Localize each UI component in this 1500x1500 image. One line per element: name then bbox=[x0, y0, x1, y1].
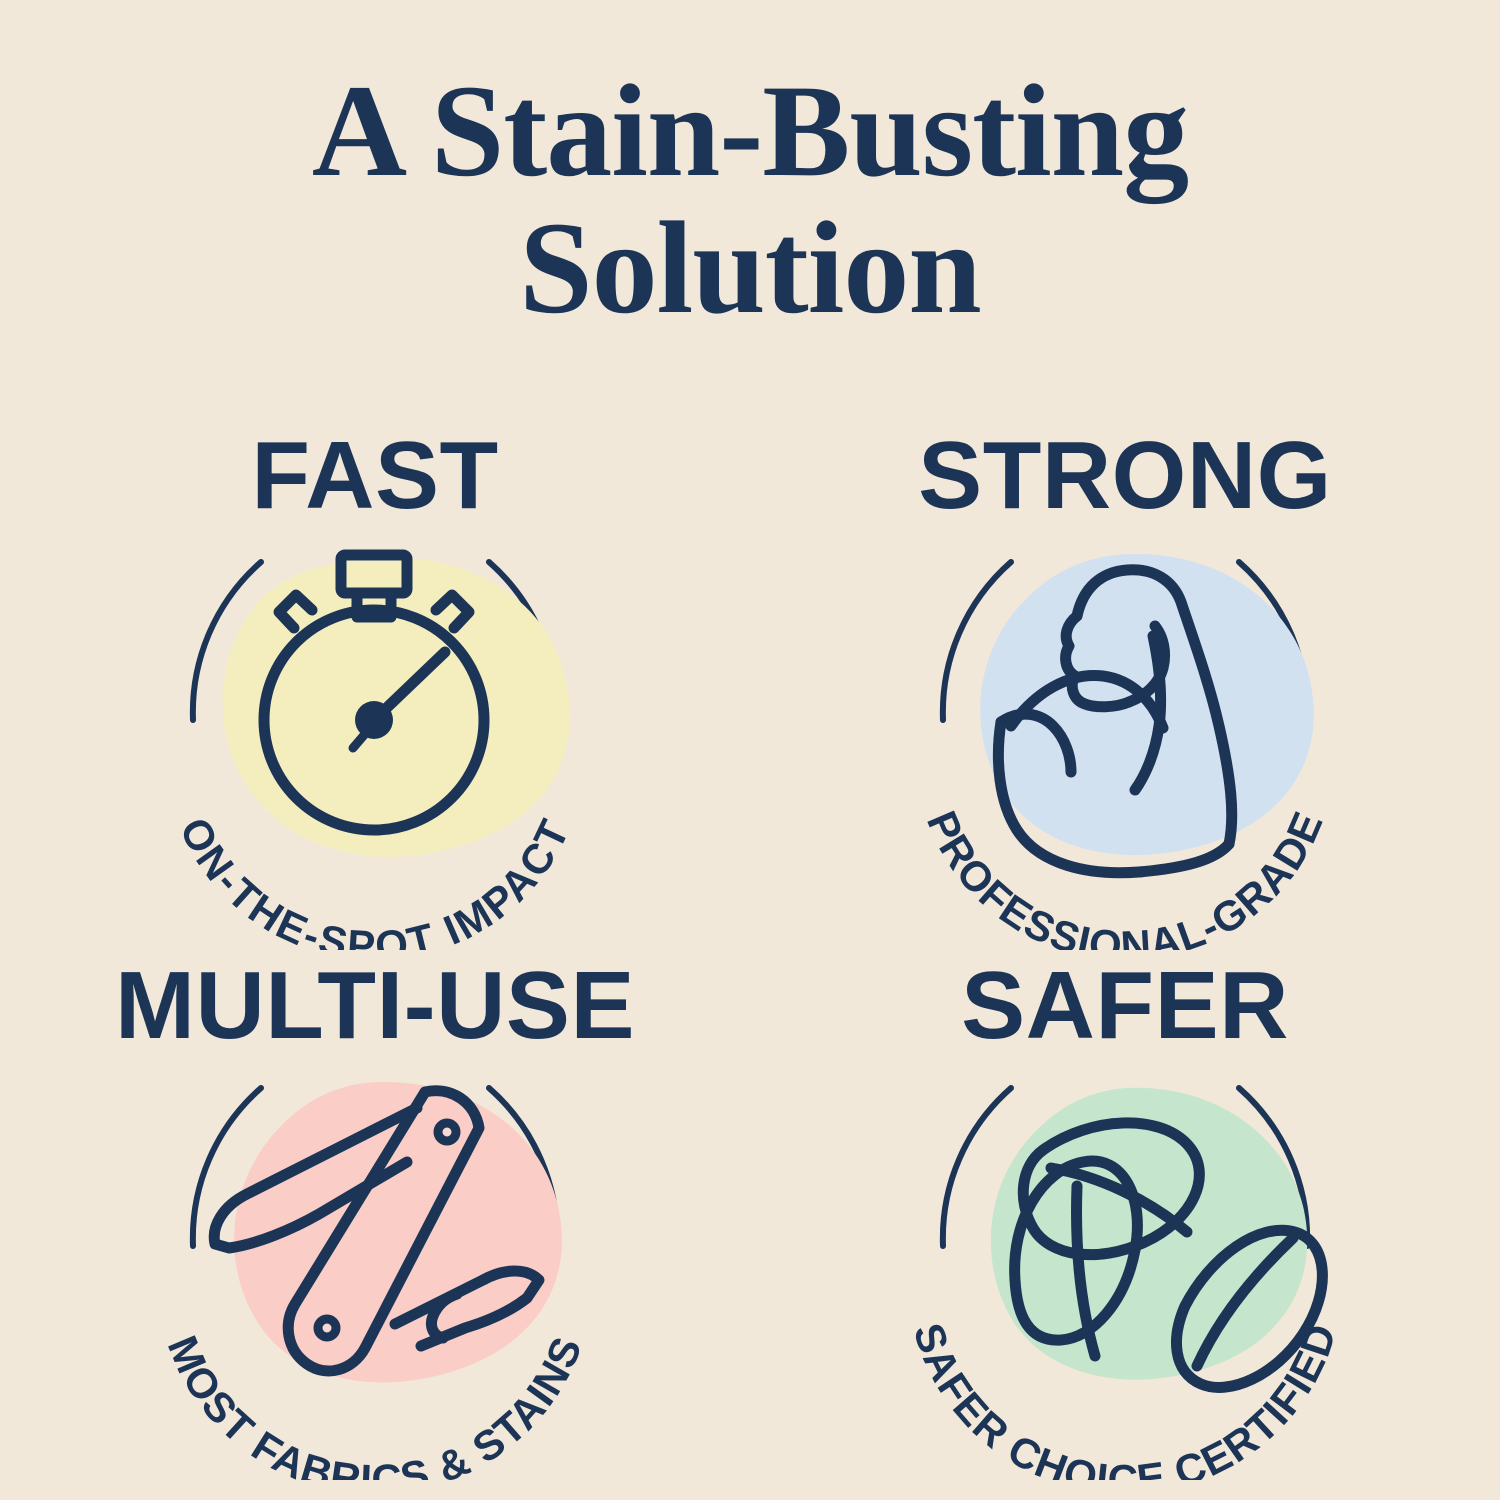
page-title: A Stain-Busting Solution bbox=[0, 62, 1500, 337]
badge-fast-graphic: FAST ON-THE-SPOT IMPACT bbox=[65, 420, 685, 950]
badge-strong: STRONG PROFESSIONAL-GRADE bbox=[750, 420, 1500, 950]
badge-fast: FAST ON-THE-SPOT IMPACT bbox=[0, 420, 750, 950]
badge-strong-graphic: STRONG PROFESSIONAL-GRADE bbox=[815, 420, 1435, 950]
badge-safer-heading: SAFER bbox=[961, 952, 1289, 1059]
badge-fast-heading: FAST bbox=[251, 422, 498, 529]
badge-multi-use-graphic: MULTI-USE MOST FABRICS & STAINS bbox=[65, 950, 685, 1480]
badge-multi-use: MULTI-USE MOST FABRICS & STAINS bbox=[0, 950, 750, 1480]
promo-graphic: A Stain-Busting Solution FAST bbox=[0, 0, 1500, 1500]
title-line-1: A Stain-Busting bbox=[0, 62, 1500, 199]
badge-safer-graphic: SAFER SAFER CHOICE CERTIFIED bbox=[815, 950, 1435, 1480]
badge-strong-heading: STRONG bbox=[918, 422, 1332, 529]
badge-multi-use-heading: MULTI-USE bbox=[115, 952, 635, 1059]
badge-safer: SAFER SAFER CHOICE CERTIFIED bbox=[750, 950, 1500, 1480]
benefit-badge-grid: FAST ON-THE-SPOT IMPACT bbox=[0, 420, 1500, 1480]
title-line-2: Solution bbox=[0, 199, 1500, 336]
